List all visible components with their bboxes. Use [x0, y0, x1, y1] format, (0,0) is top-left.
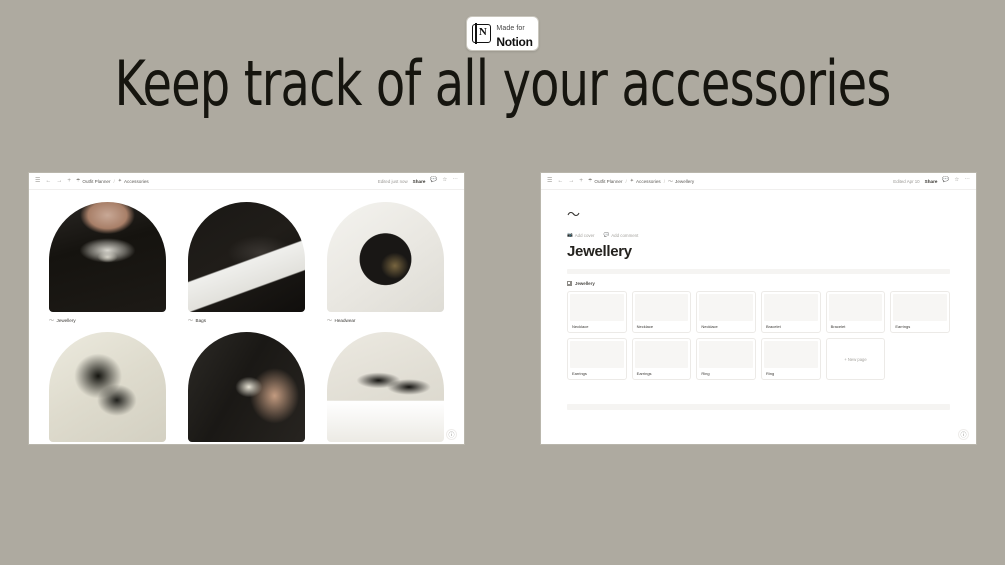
- gallery-card-image-jewellery: [49, 202, 166, 312]
- page-icon: 〜: [327, 317, 332, 324]
- jewellery-database-grid: Necklace Necklace Necklace Bracelet Brac…: [567, 291, 950, 380]
- database-card-label: Earrings: [633, 368, 691, 379]
- database-card[interactable]: Earrings: [632, 338, 692, 380]
- database-card-image: [699, 341, 753, 368]
- new-page-icon[interactable]: +: [579, 178, 583, 184]
- back-icon[interactable]: ←: [45, 178, 51, 184]
- back-icon[interactable]: ←: [557, 178, 563, 184]
- database-card[interactable]: Ring: [761, 338, 821, 380]
- database-card[interactable]: Necklace: [696, 291, 756, 333]
- page-title: Jewellery: [567, 243, 950, 260]
- content-divider: [567, 269, 950, 274]
- page-headline: Keep track of all your accessories: [70, 52, 934, 116]
- edited-status: Edited just now: [378, 179, 408, 184]
- database-card[interactable]: Earrings: [567, 338, 627, 380]
- database-card-image: [764, 294, 818, 321]
- database-card[interactable]: Ring: [696, 338, 756, 380]
- gallery-card-image-sunglasses: [327, 332, 444, 442]
- database-card-image: [699, 294, 753, 321]
- database-card-image: [570, 294, 624, 321]
- browser-window-jewellery: ☰ ← → + ☂ Outfit Planner / ✦ Accessories…: [540, 172, 977, 445]
- database-card-label: Bracelet: [762, 321, 820, 332]
- badge-made-for-label: Made for: [496, 25, 524, 32]
- database-card[interactable]: Earrings: [890, 291, 950, 333]
- browser-window-accessories: ☰ ← → + ☂ Outfit Planner / ✦ Accessories…: [28, 172, 465, 445]
- add-cover-label: Add cover: [575, 233, 595, 238]
- database-card-image: [635, 294, 689, 321]
- breadcrumb: ☂ Outfit Planner / ✦ Accessories: [76, 178, 149, 184]
- database-card-image: [764, 341, 818, 368]
- sidebar-toggle-icon[interactable]: ☰: [35, 178, 40, 184]
- gallery-card-image-gloves: [49, 332, 166, 442]
- gallery-card[interactable]: 〜 Headwear: [327, 202, 444, 324]
- jewellery-page: 〜 📷 Add cover 💬 Add comment Jewellery Je…: [541, 190, 976, 445]
- database-card-label: Ring: [697, 368, 755, 379]
- database-card-image: [829, 294, 883, 321]
- more-options-icon[interactable]: ⋯: [452, 178, 458, 184]
- database-card-label: Necklace: [697, 321, 755, 332]
- gallery-card-title: Headwear: [335, 318, 356, 323]
- edited-status: Edited Apr 10: [893, 179, 919, 184]
- database-card-label: Earrings: [891, 321, 949, 332]
- database-card-label: Necklace: [568, 321, 626, 332]
- share-button[interactable]: Share: [413, 179, 426, 184]
- outfit-planner-icon: ☂: [76, 178, 80, 184]
- comment-icon[interactable]: 💬: [942, 178, 949, 184]
- database-card-label: Earrings: [568, 368, 626, 379]
- sidebar-toggle-icon[interactable]: ☰: [547, 178, 552, 184]
- database-card[interactable]: Bracelet: [761, 291, 821, 333]
- gallery-card[interactable]: [49, 332, 166, 442]
- wavy-line-icon[interactable]: 〜: [567, 208, 950, 222]
- gallery-card-label: 〜 Headwear: [327, 317, 444, 324]
- jewellery-icon: 〜: [668, 178, 673, 185]
- accessories-icon: ✦: [630, 178, 634, 184]
- database-card-image: [570, 341, 624, 368]
- page-meta-actions: 📷 Add cover 💬 Add comment: [567, 232, 950, 238]
- forward-icon[interactable]: →: [568, 178, 574, 184]
- database-card[interactable]: Necklace: [632, 291, 692, 333]
- outfit-planner-icon: ☂: [588, 178, 592, 184]
- image-icon: 📷: [567, 232, 573, 238]
- page-icon: 〜: [49, 317, 54, 324]
- star-icon[interactable]: ☆: [954, 178, 959, 184]
- breadcrumb-separator: /: [664, 179, 665, 184]
- breadcrumb-separator: /: [625, 179, 626, 184]
- help-icon[interactable]: ⓘ: [958, 429, 969, 440]
- database-card-label: Necklace: [633, 321, 691, 332]
- add-comment-button[interactable]: 💬 Add comment: [604, 232, 639, 238]
- database-card-image: [635, 341, 689, 368]
- comment-icon: 💬: [604, 232, 610, 238]
- breadcrumb-separator: /: [113, 179, 114, 184]
- forward-icon[interactable]: →: [56, 178, 62, 184]
- database-card-image: [893, 294, 947, 321]
- page-icon: 〜: [188, 317, 193, 324]
- breadcrumb-item-jewellery[interactable]: Jewellery: [675, 179, 694, 184]
- help-icon[interactable]: ⓘ: [446, 429, 457, 440]
- database-view-tab[interactable]: Jewellery: [567, 281, 950, 286]
- left-toolbar: ☰ ← → + ☂ Outfit Planner / ✦ Accessories…: [29, 173, 464, 190]
- notion-logo-letter: N: [479, 27, 487, 38]
- share-button[interactable]: Share: [925, 179, 938, 184]
- star-icon[interactable]: ☆: [442, 178, 447, 184]
- breadcrumb-item-accessories[interactable]: Accessories: [124, 179, 149, 184]
- right-toolbar: ☰ ← → + ☂ Outfit Planner / ✦ Accessories…: [541, 173, 976, 190]
- gallery-view-icon: [567, 281, 572, 286]
- gallery-card-image-headwear: [327, 202, 444, 312]
- database-view-label: Jewellery: [575, 281, 595, 286]
- breadcrumb-item-accessories[interactable]: Accessories: [636, 179, 661, 184]
- new-page-card[interactable]: + New page: [826, 338, 886, 380]
- gallery-card-title: Jewellery: [57, 318, 76, 323]
- breadcrumb: ☂ Outfit Planner / ✦ Accessories / 〜 Jew…: [588, 178, 694, 185]
- gallery-card-image-watches: [188, 332, 305, 442]
- gallery-card[interactable]: 〜 Bags: [188, 202, 305, 324]
- breadcrumb-item-outfit-planner[interactable]: Outfit Planner: [594, 179, 622, 184]
- gallery-card[interactable]: [188, 332, 305, 442]
- breadcrumb-item-outfit-planner[interactable]: Outfit Planner: [82, 179, 110, 184]
- database-card-label: Bracelet: [827, 321, 885, 332]
- comment-icon[interactable]: 💬: [430, 178, 437, 184]
- gallery-card-title: Bags: [196, 318, 206, 323]
- accessories-gallery: 〜 Jewellery 〜 Bags 〜 Headwear ⓘ: [29, 190, 464, 445]
- add-comment-label: Add comment: [611, 233, 638, 238]
- more-options-icon[interactable]: ⋯: [964, 178, 970, 184]
- page-footer-block: [567, 404, 950, 410]
- accessories-icon: ✦: [118, 178, 122, 184]
- database-card[interactable]: Necklace: [567, 291, 627, 333]
- made-for-notion-badge: N Made for Notion: [466, 16, 539, 51]
- database-card-label: Ring: [762, 368, 820, 379]
- gallery-card[interactable]: [327, 332, 444, 442]
- add-cover-button[interactable]: 📷 Add cover: [567, 232, 595, 238]
- database-card[interactable]: Bracelet: [826, 291, 886, 333]
- new-page-icon[interactable]: +: [67, 178, 71, 184]
- gallery-card-label: 〜 Jewellery: [49, 317, 166, 324]
- gallery-card[interactable]: 〜 Jewellery: [49, 202, 166, 324]
- notion-logo-icon: N: [472, 24, 491, 43]
- gallery-card-image-bags: [188, 202, 305, 312]
- gallery-card-label: 〜 Bags: [188, 317, 305, 324]
